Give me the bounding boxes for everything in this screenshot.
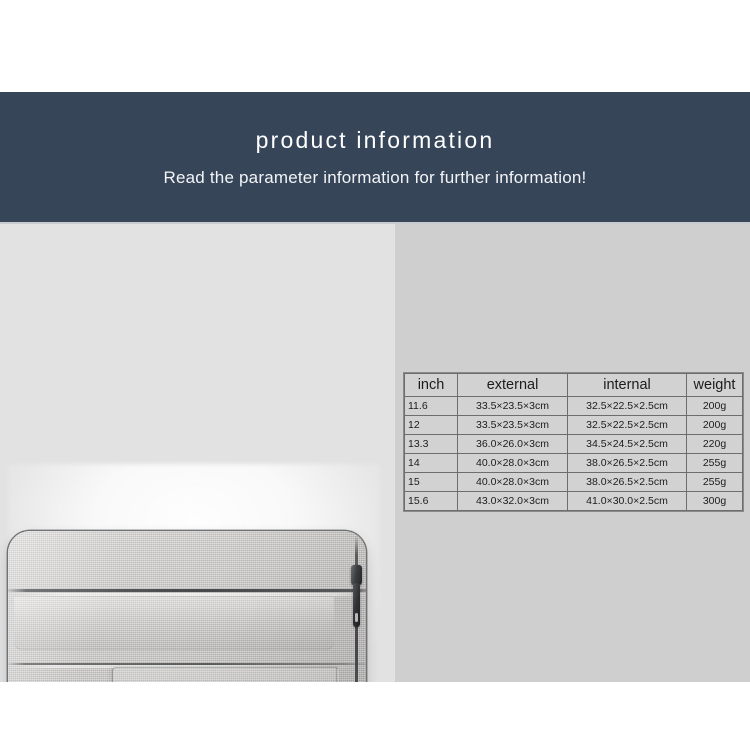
cell-inch: 11.6 [405, 397, 458, 416]
cell-weight: 200g [687, 397, 743, 416]
cell-inch: 14 [405, 454, 458, 473]
cell-external: 43.0×32.0×3cm [458, 492, 568, 511]
cell-internal: 32.5×22.5×2.5cm [568, 397, 687, 416]
cell-external: 33.5×23.5×3cm [458, 397, 568, 416]
cell-inch: 12 [405, 416, 458, 435]
cell-inch: 15.6 [405, 492, 458, 511]
cell-external: 36.0×26.0×3cm [458, 435, 568, 454]
specification-table: inch external internal weight 11.6 33.5×… [404, 373, 743, 511]
table-row: 13.3 36.0×26.0×3cm 34.5×24.5×2.5cm 220g [405, 435, 743, 454]
product-image-panel [0, 224, 395, 682]
zipper-pull-hole [355, 613, 358, 622]
cell-weight: 255g [687, 454, 743, 473]
cell-weight: 200g [687, 416, 743, 435]
laptop-sleeve-graphic [8, 531, 366, 682]
product-information-page: product information Read the parameter i… [0, 0, 750, 750]
cell-internal: 41.0×30.0×2.5cm [568, 492, 687, 511]
page-title: product information [256, 129, 495, 152]
top-seam-highlight [10, 593, 366, 596]
upper-pocket-lip [14, 597, 334, 650]
specification-panel: inch external internal weight 11.6 33.5×… [395, 224, 750, 682]
column-header-inch: inch [405, 374, 458, 397]
zipper-slider-icon [351, 565, 362, 585]
table-header-row: inch external internal weight [405, 374, 743, 397]
column-header-weight: weight [687, 374, 743, 397]
cell-inch: 15 [405, 473, 458, 492]
bottom-white-strip [0, 682, 750, 750]
table-row: 12 33.5×23.5×3cm 32.5×22.5×2.5cm 200g [405, 416, 743, 435]
front-patch-pocket-edge [336, 667, 337, 682]
cell-internal: 38.0×26.5×2.5cm [568, 454, 687, 473]
table-row: 14 40.0×28.0×3cm 38.0×26.5×2.5cm 255g [405, 454, 743, 473]
table-row: 11.6 33.5×23.5×3cm 32.5×22.5×2.5cm 200g [405, 397, 743, 416]
table-row: 15 40.0×28.0×3cm 38.0×26.5×2.5cm 255g [405, 473, 743, 492]
cell-external: 33.5×23.5×3cm [458, 416, 568, 435]
cell-weight: 255g [687, 473, 743, 492]
cell-internal: 38.0×26.5×2.5cm [568, 473, 687, 492]
cell-external: 40.0×28.0×3cm [458, 454, 568, 473]
front-patch-pocket [112, 667, 339, 682]
top-white-strip [0, 0, 750, 92]
column-header-external: external [458, 374, 568, 397]
cell-external: 40.0×28.0×3cm [458, 473, 568, 492]
top-seam [8, 589, 366, 592]
page-subtitle: Read the parameter information for furth… [164, 169, 587, 186]
spec-table-wrapper: inch external internal weight 11.6 33.5×… [404, 373, 742, 511]
column-header-internal: internal [568, 374, 687, 397]
cell-internal: 32.5×22.5×2.5cm [568, 416, 687, 435]
cell-weight: 300g [687, 492, 743, 511]
table-row: 15.6 43.0×32.0×3cm 41.0×30.0×2.5cm 300g [405, 492, 743, 511]
cell-weight: 220g [687, 435, 743, 454]
product-photo [0, 224, 395, 682]
cell-inch: 13.3 [405, 435, 458, 454]
page-banner: product information Read the parameter i… [0, 92, 750, 222]
cell-internal: 34.5×24.5×2.5cm [568, 435, 687, 454]
